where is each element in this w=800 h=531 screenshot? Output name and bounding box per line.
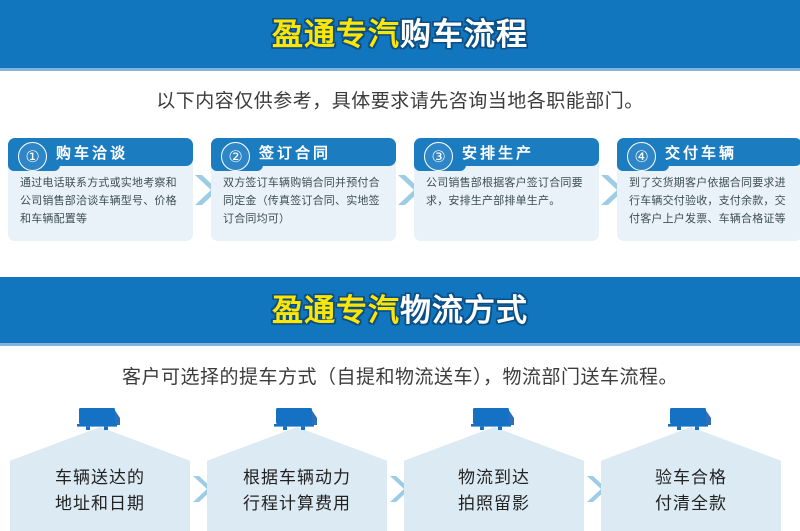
- step-title-2: 签订合同: [259, 142, 331, 163]
- section1-banner-underline: [0, 68, 800, 71]
- logistics-text-3-line1: 物流到达: [404, 465, 584, 491]
- logistics-text-1-line1: 车辆送达的: [10, 465, 190, 491]
- promo-page: 盈通专汽购车流程 以下内容仅供参考，具体要求请先咨询当地各职能部门。 通过电话联…: [0, 0, 800, 531]
- section2-title-rest: 物流方式: [400, 293, 528, 328]
- logistics-text-4-line1: 验车合格: [601, 465, 781, 491]
- logistics-text-2: 根据车辆动力 行程计算费用: [207, 465, 387, 518]
- step-card-1[interactable]: 通过电话联系方式或实地考察和公司销售部洽谈车辆型号、价格和车辆配置等 购车洽谈 …: [8, 138, 193, 241]
- step-card-4[interactable]: 到了交货期客户依据合同要求进行车辆交付验收，支付余款，交付客户上户发票、车辆合格…: [617, 138, 800, 241]
- step-body-1: 通过电话联系方式或实地考察和公司销售部洽谈车辆型号、价格和车辆配置等: [8, 162, 193, 241]
- logistics-text-4-line2: 付清全款: [601, 491, 781, 517]
- section2-banner: 盈通专汽物流方式: [0, 277, 800, 343]
- section2-banner-title: 盈通专汽物流方式: [272, 295, 528, 326]
- truck-icon-4: [665, 405, 717, 433]
- section1-banner: 盈通专汽购车流程: [0, 0, 800, 68]
- logistics-text-2-line2: 行程计算费用: [207, 491, 387, 517]
- truck-icon-3: [468, 405, 520, 433]
- logistics-card-1[interactable]: 车辆送达的 地址和日期: [10, 427, 190, 531]
- step-card-3[interactable]: 公司销售部根据客户签订合同要求，安排生产部排单生产。 安排生产 ③: [414, 138, 599, 241]
- section1-title-highlight: 盈通专汽: [272, 17, 400, 52]
- step-number-badge-2: ②: [221, 142, 250, 171]
- step-title-4: 交付车辆: [665, 142, 737, 163]
- step-body-2: 双方签订车辆购销合同并预付合同定金（传真签订合同、实地签订合同均可）: [211, 162, 396, 241]
- truck-icon-1: [74, 405, 126, 433]
- step-number-badge-4: ④: [627, 142, 656, 171]
- section2-banner-underline: [0, 343, 800, 346]
- logistics-text-3-line2: 拍照留影: [404, 491, 584, 517]
- logistics-card-2[interactable]: 根据车辆动力 行程计算费用: [207, 427, 387, 531]
- step-body-4: 到了交货期客户依据合同要求进行车辆交付验收，支付余款，交付客户上户发票、车辆合格…: [617, 162, 800, 241]
- logistics-card-3[interactable]: 物流到达 拍照留影: [404, 427, 584, 531]
- logistics-text-1-line2: 地址和日期: [10, 491, 190, 517]
- section1-caption: 以下内容仅供参考，具体要求请先咨询当地各职能部门。: [0, 86, 800, 113]
- step-title-3: 安排生产: [462, 142, 534, 163]
- step-number-badge-3: ③: [424, 142, 453, 171]
- step-text-3: 公司销售部根据客户签订合同要求，安排生产部排单生产。: [426, 174, 587, 210]
- section1-title-rest: 购车流程: [400, 17, 528, 52]
- section2-title-highlight: 盈通专汽: [272, 293, 400, 328]
- step-body-3: 公司销售部根据客户签订合同要求，安排生产部排单生产。: [414, 162, 599, 241]
- truck-icon-2: [271, 405, 323, 433]
- purchase-steps-row: 通过电话联系方式或实地考察和公司销售部洽谈车辆型号、价格和车辆配置等 购车洽谈 …: [0, 138, 800, 244]
- step-text-2: 双方签订车辆购销合同并预付合同定金（传真签订合同、实地签订合同均可）: [223, 174, 384, 228]
- step-number-badge-1: ①: [18, 142, 47, 171]
- logistics-text-3: 物流到达 拍照留影: [404, 465, 584, 518]
- logistics-text-1: 车辆送达的 地址和日期: [10, 465, 190, 518]
- logistics-text-2-line1: 根据车辆动力: [207, 465, 387, 491]
- section2-caption: 客户可选择的提车方式（自提和物流送车），物流部门送车流程。: [0, 362, 800, 389]
- step-text-4: 到了交货期客户依据合同要求进行车辆交付验收，支付余款，交付客户上户发票、车辆合格…: [629, 174, 790, 228]
- logistics-stages-row: 车辆送达的 地址和日期 根据车辆动力: [0, 405, 800, 531]
- step-text-1: 通过电话联系方式或实地考察和公司销售部洽谈车辆型号、价格和车辆配置等: [20, 174, 181, 228]
- logistics-text-4: 验车合格 付清全款: [601, 465, 781, 518]
- step-title-1: 购车洽谈: [56, 142, 128, 163]
- section1-banner-title: 盈通专汽购车流程: [272, 19, 528, 50]
- step-card-2[interactable]: 双方签订车辆购销合同并预付合同定金（传真签订合同、实地签订合同均可） 签订合同 …: [211, 138, 396, 241]
- logistics-card-4[interactable]: 验车合格 付清全款: [601, 427, 781, 531]
